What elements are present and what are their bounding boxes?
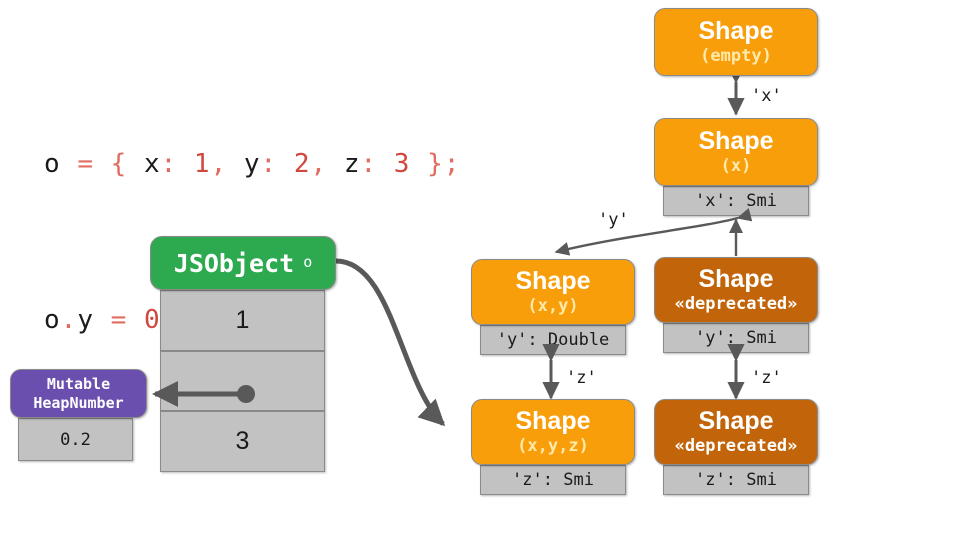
shape-subtitle: (x,y) (527, 296, 578, 317)
jsobject-slot-1 (160, 351, 325, 411)
edge-label-z-right: 'z' (751, 368, 782, 388)
shape-property-row: 'y': Smi (663, 323, 809, 353)
code-token: 3 (394, 149, 411, 179)
transition-arrow-y (556, 218, 738, 252)
heapnumber-node[interactable]: Mutable HeapNumber 0.2 (10, 369, 147, 461)
code-token: , (311, 149, 328, 179)
shape-property-row: 'z': Smi (480, 465, 626, 495)
jsobject-label: JSObject (174, 249, 294, 278)
code-token: x (144, 149, 161, 179)
code-token (327, 149, 344, 179)
code-token (277, 149, 294, 179)
code-token: : (261, 149, 278, 179)
shape-node-x[interactable]: Shape (x) 'x': Smi (654, 118, 818, 216)
shape-property-row: 'z': Smi (663, 465, 809, 495)
heapnumber-value: 0.2 (18, 418, 133, 461)
shape-node-xy[interactable]: Shape (x,y) 'y': Double (471, 259, 635, 355)
code-token (227, 149, 244, 179)
shape-property-row: 'y': Double (480, 325, 626, 355)
code-token: . (61, 305, 78, 335)
jsobject-slot-2: 3 (160, 411, 325, 472)
shape-node-xyz[interactable]: Shape (x,y,z) 'z': Smi (471, 399, 635, 495)
code-token (61, 149, 78, 179)
shape-header-deprecated-y[interactable]: Shape «deprecated» (654, 257, 818, 323)
code-token: , (211, 149, 228, 179)
code-token: o (44, 149, 61, 179)
diagram-canvas: o = { x: 1, y: 2, z: 3 }; o.y = 0.1; (0, 0, 960, 540)
shape-title: Shape (515, 267, 590, 296)
heapnumber-header[interactable]: Mutable HeapNumber (10, 369, 147, 418)
code-token: ; (444, 149, 461, 179)
edge-label-z-left: 'z' (566, 368, 597, 388)
heapnumber-label-line1: Mutable (47, 375, 110, 394)
shape-title: Shape (698, 265, 773, 294)
shape-title: Shape (698, 127, 773, 156)
shape-subtitle: (empty) (700, 46, 772, 67)
code-token (410, 149, 427, 179)
shape-node-deprecated-z[interactable]: Shape «deprecated» 'z': Smi (654, 399, 818, 495)
code-token (127, 305, 144, 335)
shape-title: Shape (698, 17, 773, 46)
shape-subtitle: (x,y,z) (517, 436, 589, 457)
shape-header-xyz[interactable]: Shape (x,y,z) (471, 399, 635, 465)
jsobject-node[interactable]: JSObject o 1 3 (150, 236, 336, 472)
edge-label-y: 'y' (598, 210, 629, 230)
code-token: o (44, 305, 61, 335)
jsobject-header[interactable]: JSObject o (150, 236, 336, 290)
shape-subtitle: (x) (721, 156, 752, 177)
code-token: { (111, 149, 128, 179)
code-token (127, 149, 144, 179)
shape-header-empty[interactable]: Shape (empty) (654, 8, 818, 76)
code-token: y (244, 149, 261, 179)
code-token: = (111, 305, 128, 335)
code-token: y (77, 305, 94, 335)
code-token (177, 149, 194, 179)
shape-header-deprecated-z[interactable]: Shape «deprecated» (654, 399, 818, 465)
shape-title: Shape (698, 407, 773, 436)
code-token: z (344, 149, 361, 179)
code-token (377, 149, 394, 179)
code-token (94, 149, 111, 179)
shape-subtitle: «deprecated» (675, 294, 798, 315)
code-token: = (77, 149, 94, 179)
code-token: : (360, 149, 377, 179)
code-token: } (427, 149, 444, 179)
code-line-1: o = { x: 1, y: 2, z: 3 }; (44, 138, 460, 190)
jsobject-slot-0: 1 (160, 290, 325, 351)
shape-header-xy[interactable]: Shape (x,y) (471, 259, 635, 325)
shape-property-row: 'x': Smi (663, 186, 809, 216)
shape-node-empty[interactable]: Shape (empty) (654, 8, 818, 76)
code-token: 1 (194, 149, 211, 179)
shape-title: Shape (515, 407, 590, 436)
edge-label-x: 'x' (751, 86, 782, 106)
heapnumber-label-line2: HeapNumber (33, 394, 123, 413)
code-token: 2 (294, 149, 311, 179)
shape-header-x[interactable]: Shape (x) (654, 118, 818, 186)
code-token: : (161, 149, 178, 179)
code-token (94, 305, 111, 335)
shape-node-deprecated-y[interactable]: Shape «deprecated» 'y': Smi (654, 257, 818, 353)
shape-subtitle: «deprecated» (675, 436, 798, 457)
jsobject-variable: o (303, 253, 312, 273)
